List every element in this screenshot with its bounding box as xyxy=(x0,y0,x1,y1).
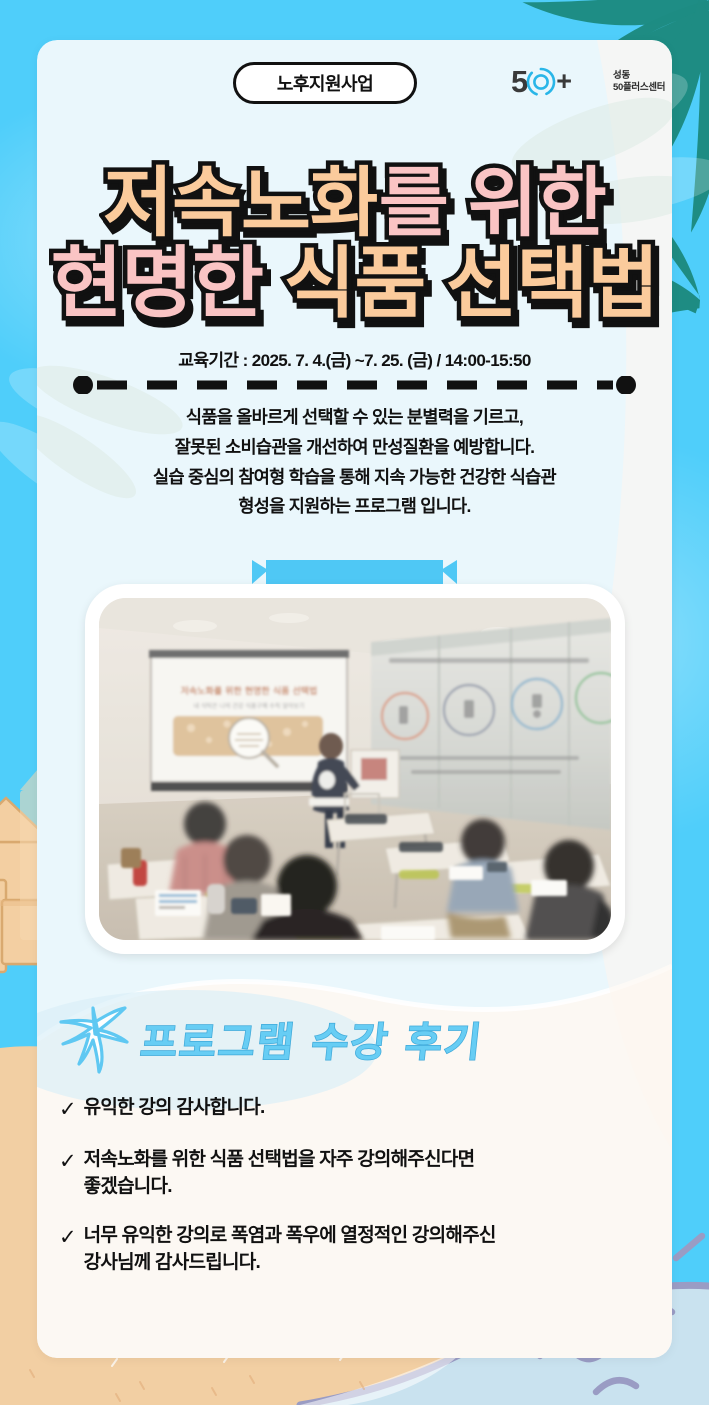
schedule-text: 교육기간 : 2025. 7. 4.(금) ~7. 25. (금) / 14:0… xyxy=(178,351,530,370)
card-header: 노후지원사업 5 + 성동 50플러스센터 xyxy=(37,62,672,110)
logo-numeral-5: 5 xyxy=(511,66,527,97)
title-line-1: 저속노화를 위한 xyxy=(37,166,672,241)
classroom-photo: 저속노화를 위한 현명한 식품 선택법 내 식탁은 나의 건강 식품구매 수칙 … xyxy=(99,598,611,940)
schedule-line: 교육기간 : 2025. 7. 4.(금) ~7. 25. (금) / 14:0… xyxy=(37,346,672,371)
title-seg-1b: 를 위한 xyxy=(379,161,606,246)
desc-line-3: 실습 중심의 참여형 학습을 통해 지속 가능한 건강한 식습관 xyxy=(37,463,672,493)
reviews-heading-text: 프로그램 수강 후기 xyxy=(138,1010,486,1068)
review-text-line: 저속노화를 위한 식품 선택법을 자주 강의해주신다면 xyxy=(84,1149,475,1170)
desc-line-4: 형성을 지원하는 프로그램 입니다. xyxy=(37,492,672,522)
title-seg-2b: 식품 선택법 xyxy=(263,239,658,327)
poster-card: 노후지원사업 5 + 성동 50플러스센터 xyxy=(37,40,672,1358)
desc-line-2: 잘못된 소비습관을 개선하여 만성질환을 예방합니다. xyxy=(37,433,672,463)
logo-org-line1: 성동 xyxy=(613,70,665,82)
review-item: ✓ 저속노화를 위한 식품 선택법을 자주 강의해주신다면 좋겠습니다. xyxy=(59,1147,659,1201)
badge-label: 노후지원사업 xyxy=(277,70,373,96)
hand-drawn-star-icon xyxy=(55,1000,133,1078)
dashed-line-with-dots-icon xyxy=(73,376,636,394)
review-item: ✓ 너무 유익한 강의로 폭염과 폭우에 열정적인 강의해주신 강사님께 감사드… xyxy=(59,1223,659,1277)
reviews-heading-row: 프로그램 수강 후기 xyxy=(55,1000,483,1078)
organization-logo: 5 + 성동 50플러스센터 xyxy=(511,66,661,106)
review-text: 저속노화를 위한 식품 선택법을 자주 강의해주신다면 좋겠습니다. xyxy=(84,1147,475,1201)
logo-org-line2: 50플러스센터 xyxy=(613,82,665,94)
program-category-badge: 노후지원사업 xyxy=(233,62,417,104)
review-text-line: 좋겠습니다. xyxy=(84,1176,172,1197)
reviews-list: ✓ 유익한 강의 감사합니다. ✓ 저속노화를 위한 식품 선택법을 자주 강의… xyxy=(59,1095,659,1299)
desc-line-1: 식품을 올바르게 선택할 수 있는 분별력을 기르고, xyxy=(37,403,672,433)
title-line-2: 현명한 식품 선택법 xyxy=(37,245,672,322)
photo-section: 저속노화를 위한 현명한 식품 선택법 내 식탁은 나의 건강 식품구매 수칙 … xyxy=(37,560,672,980)
logo-plus-sign: + xyxy=(556,68,572,95)
title-seg-2a: 현명한 xyxy=(51,239,263,327)
photo-frame: 저속노화를 위한 현명한 식품 선택법 내 식탁은 나의 건강 식품구매 수칙 … xyxy=(85,584,625,954)
review-text: 너무 유익한 강의로 폭염과 폭우에 열정적인 강의해주신 강사님께 감사드립니… xyxy=(84,1223,496,1277)
poster-title: 저속노화를 위한 현명한 식품 선택법 xyxy=(37,166,672,322)
review-text-line: 너무 유익한 강의로 폭염과 폭우에 열정적인 강의해주신 xyxy=(84,1225,496,1246)
fifty-plus-ring-icon xyxy=(526,67,556,97)
title-seg-1a: 저속노화 xyxy=(103,161,379,246)
program-description: 식품을 올바르게 선택할 수 있는 분별력을 기르고, 잘못된 소비습관을 개선… xyxy=(37,403,672,522)
review-item: ✓ 유익한 강의 감사합니다. xyxy=(59,1095,659,1125)
review-text: 유익한 강의 감사합니다. xyxy=(84,1095,265,1125)
check-icon: ✓ xyxy=(59,1147,77,1201)
review-text-line: 강사님께 감사드립니다. xyxy=(84,1252,260,1273)
check-icon: ✓ xyxy=(59,1223,77,1277)
check-icon: ✓ xyxy=(59,1095,77,1125)
